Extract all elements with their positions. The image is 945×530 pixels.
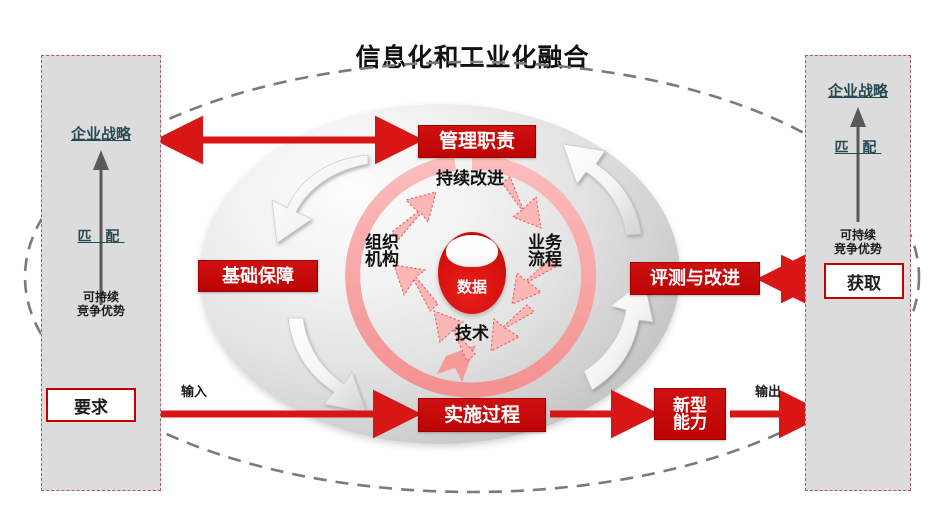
box-requirement[interactable]: 要求 [46, 388, 136, 422]
flow-label-input: 输入 [181, 381, 207, 400]
right-panel-advantage-line1: 可持续 [805, 228, 911, 242]
cycle-label-technology: 技术 [430, 325, 514, 342]
cycle-label-business-line1: 业务 [518, 234, 572, 251]
data-sphere: 数据 [438, 232, 506, 314]
box-new-capability-line2: 能力 [673, 414, 707, 431]
right-panel-match-label: 匹 配 [805, 137, 911, 157]
box-management-responsibility[interactable]: 管理职责 [418, 125, 536, 158]
cycle-label-organization-line2: 机构 [355, 251, 409, 268]
box-gain[interactable]: 获取 [824, 263, 904, 299]
cycle-label-organization-line1: 组织 [355, 234, 409, 251]
sphere-highlight [446, 235, 498, 267]
left-panel-advantage-label: 可持续 竞争优势 [41, 290, 161, 318]
box-new-capability-line1: 新型 [673, 397, 707, 414]
left-panel-match-label: 匹 配 [41, 226, 161, 246]
box-implementation-process[interactable]: 实施过程 [418, 398, 546, 432]
diagram-canvas: 信息化和工业化融合 [0, 0, 945, 530]
right-panel-advantage-label: 可持续 竞争优势 [805, 228, 911, 256]
box-evaluation-improvement[interactable]: 评测与改进 [630, 262, 760, 295]
box-foundation-support[interactable]: 基础保障 [198, 260, 318, 292]
left-panel-strategy-label: 企业战略 [41, 123, 161, 144]
cycle-label-organization: 组织 机构 [355, 234, 409, 268]
box-new-capability[interactable]: 新型 能力 [654, 388, 726, 440]
flow-label-output: 输出 [755, 381, 781, 400]
right-panel-strategy-label: 企业战略 [805, 80, 911, 101]
sphere-label: 数据 [438, 276, 506, 297]
left-panel-advantage-line1: 可持续 [41, 290, 161, 304]
right-panel-advantage-line2: 竞争优势 [805, 242, 911, 256]
left-enterprise-strategy-panel [41, 55, 161, 491]
cycle-label-business-process: 业务 流程 [518, 234, 572, 268]
cycle-label-business-line2: 流程 [518, 251, 572, 268]
cycle-label-continuous-improvement: 持续改进 [400, 170, 540, 187]
left-panel-advantage-line2: 竞争优势 [41, 304, 161, 318]
